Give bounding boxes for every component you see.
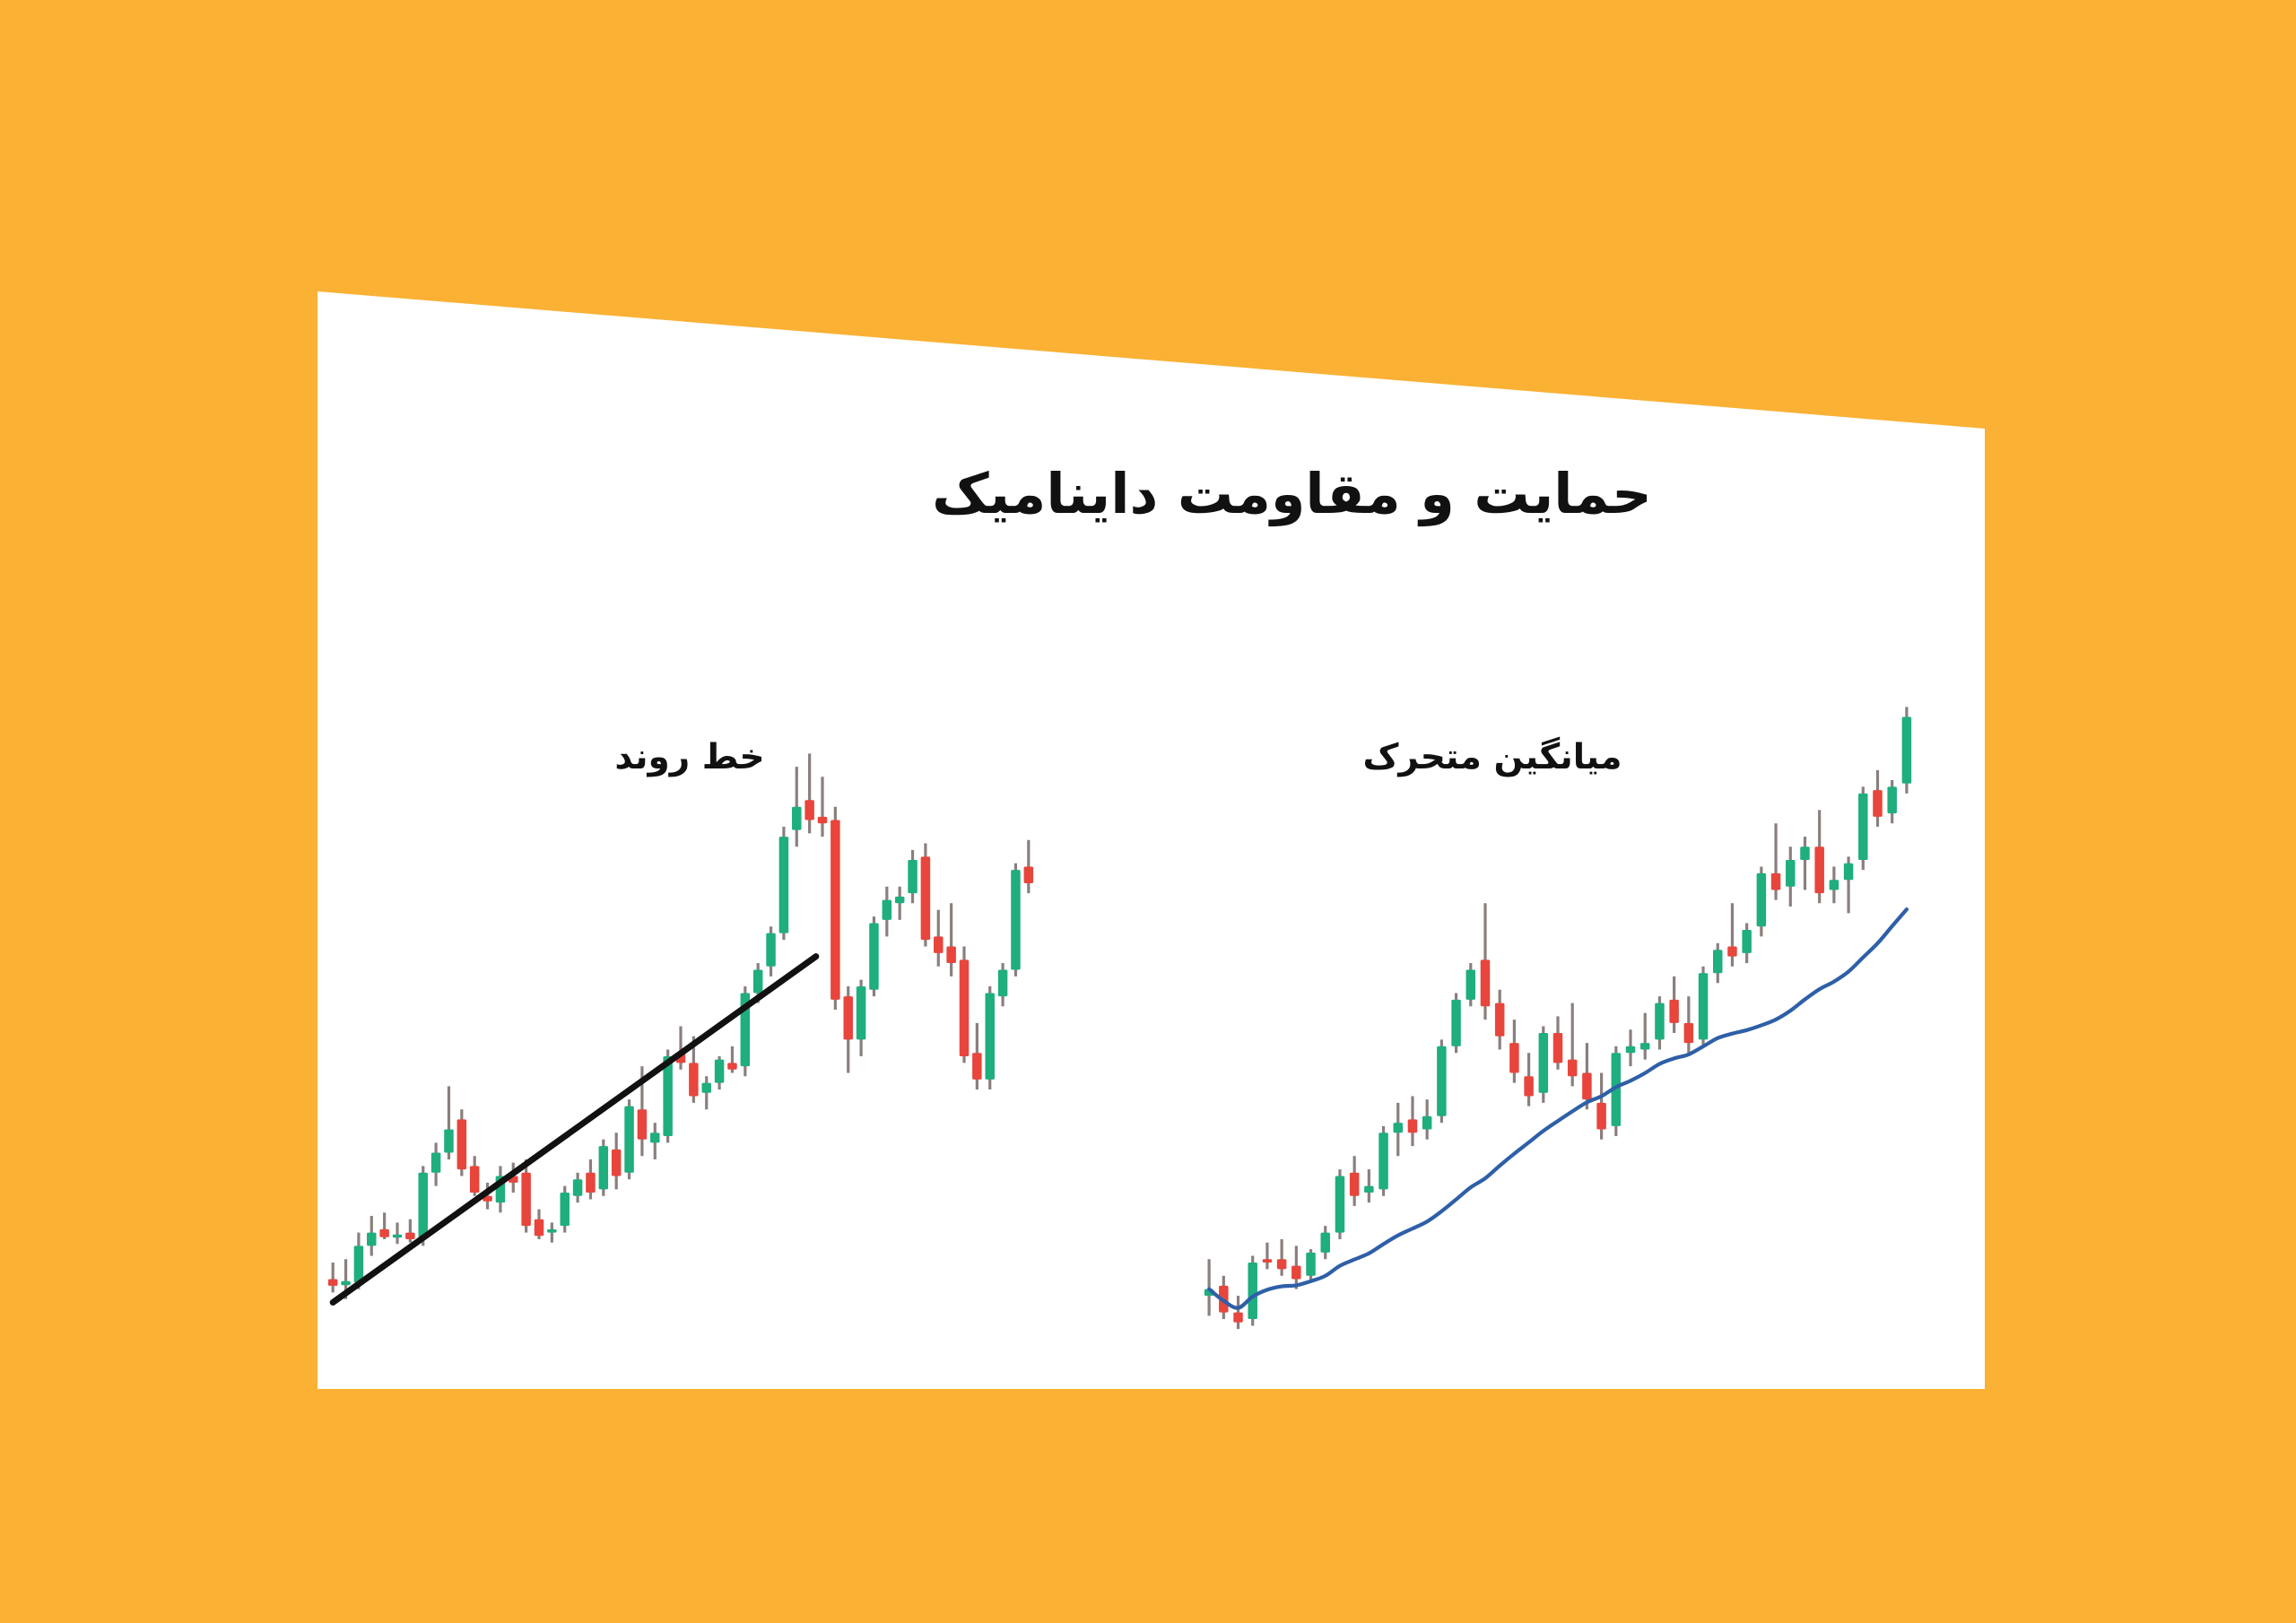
moving-average-candles (1205, 707, 1911, 1329)
candle-body (1248, 1263, 1257, 1319)
candle-body (1669, 1000, 1679, 1023)
candle-body (1553, 1033, 1563, 1063)
candle-body (1509, 1043, 1519, 1072)
candle-body (599, 1146, 609, 1189)
candle-body (560, 1193, 570, 1226)
candle-body (1364, 1186, 1374, 1193)
slide-canvas: حمایت و مقاومت داینامیک خط روند میانگین … (0, 0, 2296, 1623)
candle-body (1757, 873, 1767, 926)
candle-body (1684, 1023, 1694, 1043)
candle-body (328, 1280, 338, 1286)
candle-body (1350, 1173, 1360, 1196)
candle-body (1263, 1259, 1273, 1263)
candle-body (470, 1166, 480, 1193)
candle-body (972, 1053, 982, 1080)
candle-body (1481, 959, 1491, 1006)
candle-body (1335, 1176, 1345, 1233)
candle-body (998, 969, 1008, 996)
candle-body (883, 900, 892, 920)
candle-body (921, 856, 931, 940)
candle-body (1873, 790, 1883, 817)
candle-body (1727, 947, 1737, 957)
candle-body (1011, 870, 1021, 969)
candle-body (650, 1133, 660, 1142)
candle-body (818, 817, 828, 823)
candle-body (1024, 866, 1034, 883)
candle-body (379, 1229, 389, 1237)
candle-body (701, 1083, 711, 1093)
candle-body (535, 1219, 544, 1237)
candle-body (804, 800, 814, 820)
candle-body (895, 897, 905, 903)
trendline-chart (317, 291, 1214, 1389)
candle-body (1568, 1060, 1578, 1077)
candle-body (869, 924, 879, 990)
candle-body (393, 1235, 403, 1237)
candle-body (934, 936, 944, 953)
candle-body (1626, 1046, 1636, 1053)
candle-body (985, 993, 995, 1079)
content-card: حمایت و مقاومت داینامیک خط روند میانگین … (317, 291, 1985, 1389)
candle-body (444, 1130, 454, 1153)
candle-body (1596, 1103, 1606, 1130)
candle-body (766, 933, 776, 967)
candle-body (1466, 969, 1476, 999)
candle-body (1306, 1253, 1316, 1276)
candle-body (1378, 1133, 1388, 1189)
candle-body (431, 1153, 441, 1173)
candle-body (908, 860, 918, 893)
candle-body (547, 1229, 557, 1233)
candle-body (779, 837, 789, 933)
candle-body (960, 959, 970, 1056)
candle-body (715, 1060, 725, 1083)
candle-body (727, 1063, 737, 1069)
candle-body (1786, 860, 1796, 887)
candle-body (457, 1119, 467, 1169)
candle-body (1495, 1003, 1505, 1037)
candle-body (638, 1109, 648, 1139)
candle-body (521, 1173, 531, 1226)
candle-body (1814, 846, 1824, 893)
candle-body (1320, 1233, 1330, 1253)
candle-body (1887, 786, 1897, 813)
candle-body (1655, 1003, 1665, 1040)
candle-body (1582, 1072, 1592, 1099)
candle-body (1771, 873, 1781, 890)
candle-body (1742, 930, 1752, 953)
moving-average-overlay (1209, 909, 1907, 1308)
candle-body (1830, 880, 1839, 890)
candle-body (946, 947, 956, 964)
candle-body (586, 1173, 596, 1193)
candle-body (367, 1233, 377, 1246)
candle-body (1699, 973, 1709, 1039)
candle-body (624, 1107, 634, 1173)
candle-body (1539, 1033, 1549, 1093)
trendline-overlay (333, 957, 816, 1303)
candle-body (843, 996, 853, 1039)
candle-body (1524, 1076, 1534, 1096)
candle-body (1291, 1266, 1301, 1280)
candle-body (341, 1281, 351, 1285)
candle-body (1451, 1000, 1461, 1046)
candle-body (354, 1245, 364, 1282)
candle-body (1800, 846, 1810, 860)
candle-body (1858, 794, 1868, 860)
candle-body (1844, 864, 1854, 881)
candle-body (573, 1179, 583, 1196)
trendline-candles (328, 753, 1033, 1298)
candle-body (792, 807, 802, 830)
candle-body (1233, 1313, 1243, 1323)
candle-body (1902, 717, 1912, 784)
candle-body (405, 1233, 415, 1239)
card-inner: حمایت و مقاومت داینامیک خط روند میانگین … (317, 291, 1985, 1389)
chart-label-trendline: خط روند (546, 740, 833, 775)
candle-body (753, 969, 763, 993)
candle-body (1713, 950, 1723, 973)
candle-body (418, 1173, 428, 1237)
candle-body (1437, 1046, 1447, 1116)
candle-body (612, 1150, 622, 1176)
candle-body (1394, 1123, 1404, 1133)
candle-body (1640, 1043, 1650, 1049)
candle-body (689, 1063, 699, 1096)
moving-average-chart (1196, 291, 1985, 1389)
candle-body (831, 820, 840, 1000)
candle-body (1408, 1119, 1418, 1133)
candle-body (857, 986, 866, 1039)
chart-label-moving-average: میانگین متحرک (1304, 740, 1681, 775)
candle-body (1277, 1259, 1287, 1269)
candle-body (1422, 1116, 1432, 1130)
